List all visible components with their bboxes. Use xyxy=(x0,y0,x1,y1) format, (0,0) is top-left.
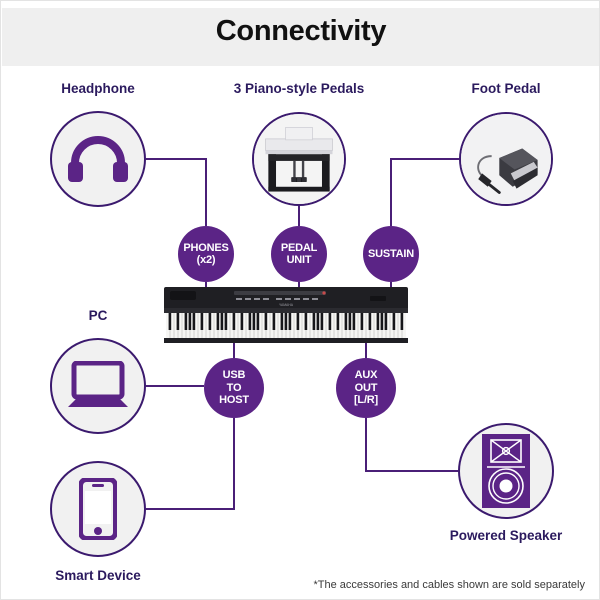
node-foot-pedal[interactable] xyxy=(459,112,553,206)
foot-pedal-photo xyxy=(461,112,551,206)
port-phones-line-1: PHONES xyxy=(183,242,228,255)
port-aux-line-3: [L/R] xyxy=(354,394,378,407)
port-aux-line-2: OUT xyxy=(354,382,378,395)
smartphone-icon xyxy=(79,478,117,540)
port-aux-out[interactable]: AUX OUT [L/R] xyxy=(336,358,396,418)
port-sustain-line-1: SUSTAIN xyxy=(368,248,414,261)
node-powered-speaker[interactable] xyxy=(458,423,554,519)
node-pc[interactable] xyxy=(50,338,146,434)
svg-text:YAMAHA: YAMAHA xyxy=(279,303,294,307)
wire-usb-to-smartdevice xyxy=(146,418,234,509)
port-phones[interactable]: PHONES (x2) xyxy=(178,226,234,282)
node-pedal-unit[interactable] xyxy=(252,112,346,206)
label-powered-speaker: Powered Speaker xyxy=(396,528,600,543)
node-smart-device[interactable] xyxy=(50,461,146,557)
laptop-icon xyxy=(66,361,130,411)
headphone-icon xyxy=(67,133,129,185)
port-phones-line-2: (x2) xyxy=(183,254,228,267)
piano-pedal-unit-photo xyxy=(254,112,344,206)
label-pedal-unit: 3 Piano-style Pedals xyxy=(189,81,409,96)
port-usb-line-1: USB xyxy=(219,369,249,382)
port-usb-to-host[interactable]: USB TO HOST xyxy=(204,358,264,418)
port-usb-line-3: HOST xyxy=(219,394,249,407)
wire-aux-to-speaker xyxy=(366,418,458,471)
label-smart-device: Smart Device xyxy=(0,568,208,583)
connectivity-diagram: Connectivity xyxy=(0,0,600,600)
label-pc: PC xyxy=(0,308,208,323)
port-pedal-unit-line-1: PEDAL xyxy=(281,242,317,255)
port-pedal-unit[interactable]: PEDAL UNIT xyxy=(271,226,327,282)
label-headphone: Headphone xyxy=(0,81,208,96)
port-aux-line-1: AUX xyxy=(354,369,378,382)
wire-footpedal-to-sustain xyxy=(391,159,459,226)
node-headphone[interactable] xyxy=(50,111,146,207)
port-usb-line-2: TO xyxy=(219,382,249,395)
footnote: *The accessories and cables shown are so… xyxy=(314,579,585,591)
label-foot-pedal: Foot Pedal xyxy=(396,81,600,96)
port-pedal-unit-line-2: UNIT xyxy=(281,254,317,267)
port-sustain[interactable]: SUSTAIN xyxy=(363,226,419,282)
speaker-icon xyxy=(482,434,530,508)
wire-headphone-to-phones xyxy=(146,159,206,226)
